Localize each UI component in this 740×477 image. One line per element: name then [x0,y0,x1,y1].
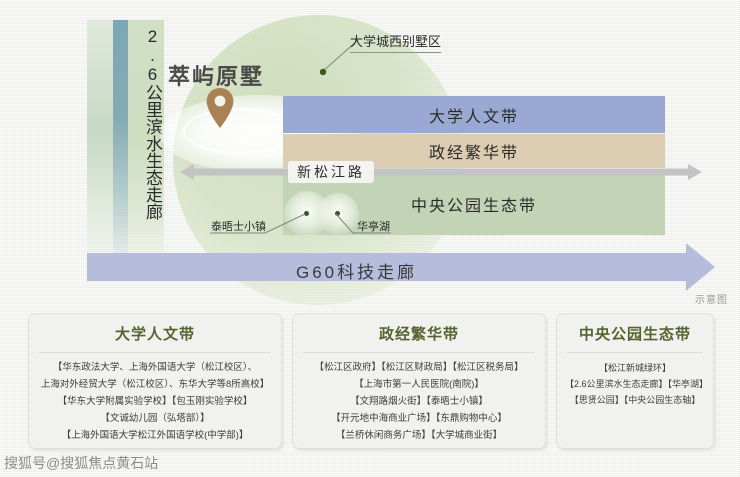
list-item: 【2.6公里滨水生态走廊】【华亭湖】 [565,376,705,392]
info-card-university-body: 【华东政法大学、上海外国语大学（松江校区）、 上海对外经贸大学（松江校区）、东华… [29,360,281,449]
waterfront-strip-outer [87,20,113,270]
info-card-park-body: 【松江新城绿环】 【2.6公里滨水生态走廊】【华亭湖】 【思贤公园】【中央公园生… [557,360,713,417]
info-card-government: 政经繁华带 【松江区政府】【松江区财政局】【松江区税务局】 【上海市第一人民医院… [292,313,546,449]
road-arrow-double [180,162,702,182]
info-card-university-title: 大学人文带 [29,314,281,352]
road-label-xinsongjiang: 新松江路 [288,161,374,183]
watermark-text: 搜狐号@搜狐焦点黄石站 [4,453,158,473]
list-item: 上海对外经贸大学（松江校区）、东华大学等8所高校】 [37,377,273,394]
list-item: 【思贤公园】【中央公园生态轴】 [565,392,705,408]
g60-corridor-arrowhead [686,243,715,291]
project-name-label: 萃屿原墅 [168,59,264,91]
info-card-government-body: 【松江区政府】【松江区财政局】【松江区税务局】 【上海市第一人民医院(南院)】 … [293,360,545,449]
callout-huatinghu: 华亭湖 [357,218,390,234]
location-diagram: 2.6公里滨水生态走廊 萃屿原墅 大学城西别墅区 大学人文带 政经繁华带 中央公… [0,0,740,310]
info-card-park: 中央公园生态带 【松江新城绿环】 【2.6公里滨水生态走廊】【华亭湖】 【思贤公… [556,313,714,449]
project-glow-ring [183,108,297,154]
list-item: 【华东大学附属实验学校】【包玉刚实验学校】 [37,394,273,411]
list-item: 【华东政法大学、上海外国语大学（松江校区）、 [37,360,273,377]
callout-thames-town: 泰晤士小镇 [211,218,266,234]
band-government-economy-label: 政经繁华带 [429,139,519,163]
band-university-culture-label: 大学人文带 [429,103,519,127]
waterfront-strip-water [113,20,128,270]
list-item: 【文翔路烟火街】【泰晤士小镇】 [301,394,537,411]
info-card-group: 大学人文带 【华东政法大学、上海外国语大学（松江校区）、 上海对外经贸大学（松江… [0,313,740,458]
list-item: 【文诚幼儿园（弘塔部）】 [37,411,273,428]
info-card-government-title: 政经繁华带 [293,314,545,352]
divider [303,352,535,353]
map-pin-icon [206,88,234,128]
g60-corridor-label: G60科技走廊 [296,258,417,283]
info-card-university: 大学人文带 【华东政法大学、上海外国语大学（松江校区）、 上海对外经贸大学（松江… [28,313,282,449]
divider [567,352,703,353]
callout-villa-area: 大学城西别墅区 [350,31,441,53]
divider [39,352,271,353]
list-item: 【开元地中海商业广场】【东鼎购物中心】 [301,411,537,428]
list-item: 【上海外国语大学松江外国语学校(中学部)】 [37,428,273,445]
waterfront-corridor-label: 2.6公里滨水生态走廊 [133,27,161,220]
sketch-disclaimer: 示意图 [695,291,728,306]
callout-villa-area-text: 大学城西别墅区 [350,31,441,53]
list-item: 【兰桥休闲商务广场】【大学城商业街】 [301,428,537,445]
list-item: 【松江新城绿环】 [565,360,705,376]
band-central-park-eco-label: 中央公园生态带 [411,192,537,216]
list-item: 【上海市第一人民医院(南院)】 [301,377,537,394]
band-university-culture: 大学人文带 [283,96,665,133]
info-card-park-title: 中央公园生态带 [557,314,713,352]
list-item: 【松江区政府】【松江区财政局】【松江区税务局】 [301,360,537,377]
